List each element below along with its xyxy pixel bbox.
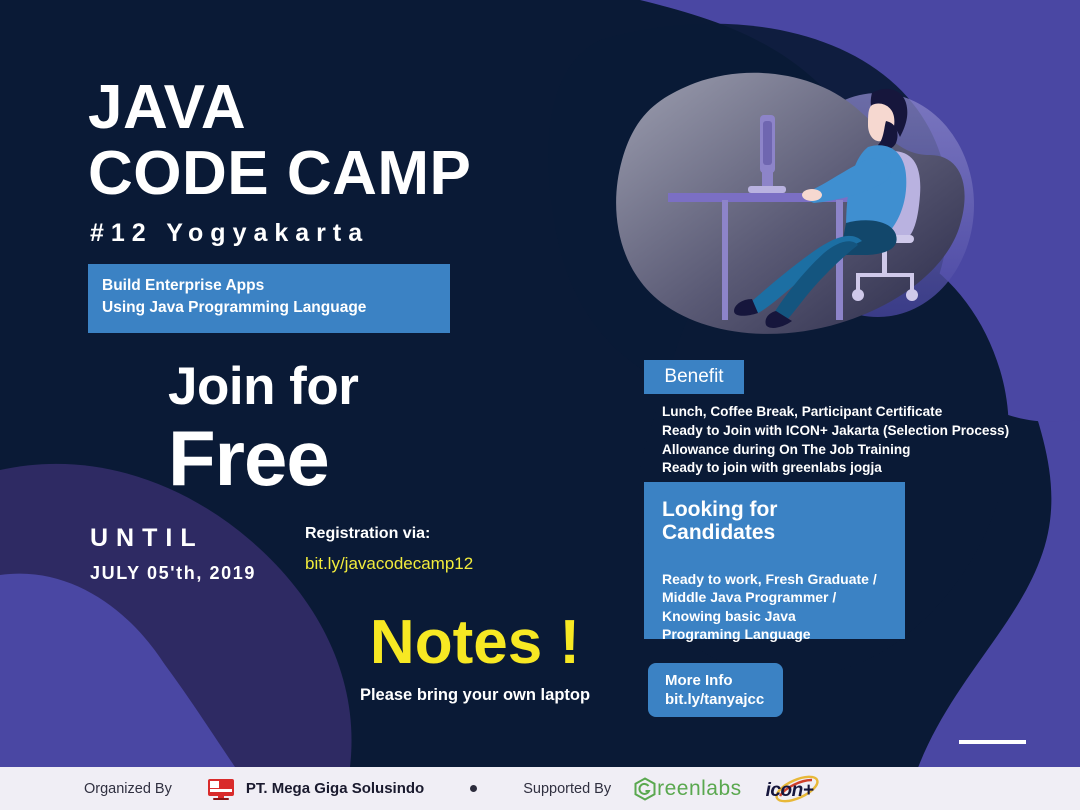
title-line-java: JAVA xyxy=(88,78,608,139)
benefit-item: Lunch, Coffee Break, Participant Certifi… xyxy=(662,403,992,422)
more-info-label: More Info xyxy=(665,671,783,690)
more-info-link[interactable]: bit.ly/tanyajcc xyxy=(665,690,783,709)
greenlabs-hexagon-icon xyxy=(633,777,657,801)
benefit-item: Ready to join with greenlabs jogja xyxy=(662,459,992,478)
developer-at-desk-illustration xyxy=(600,55,1000,355)
title-line-codecamp: CODE CAMP xyxy=(88,143,608,205)
benefit-item: Allowance during On The Job Training xyxy=(662,441,992,460)
candidates-box: Looking for Candidates Ready to work, Fr… xyxy=(644,482,905,639)
benefit-item: Ready to Join with ICON+ Jakarta (Select… xyxy=(662,422,992,441)
candidates-item: Programing Language xyxy=(662,625,887,643)
candidates-title: Looking for Candidates xyxy=(662,498,887,544)
candidates-item: Knowing basic Java xyxy=(662,607,887,625)
greenlabs-wordmark: reenlabs xyxy=(657,777,742,801)
deadline-label: UNTIL xyxy=(90,523,256,553)
join-free-block: Join for Free xyxy=(168,360,588,497)
organizer-name: PT. Mega Giga Solusindo xyxy=(246,780,424,797)
decorative-rule xyxy=(959,740,1026,744)
iconplus-wordmark: icon+ xyxy=(766,780,814,802)
join-for-label: Join for xyxy=(168,360,588,413)
tagline-line-2: Using Java Programming Language xyxy=(102,297,436,319)
registration-block: Registration via: bit.ly/javacodecamp12 xyxy=(305,524,473,574)
headline-block: JAVA CODE CAMP #12 Yogyakarta Build Ente… xyxy=(88,78,608,333)
candidates-list: Ready to work, Fresh Graduate / Middle J… xyxy=(662,570,887,643)
greenlabs-logo: reenlabs xyxy=(633,777,742,801)
notes-title: Notes ! xyxy=(310,612,640,674)
footer-separator-dot xyxy=(470,785,477,792)
iconplus-logo: icon+ xyxy=(760,774,830,804)
deadline-block: UNTIL JULY 05'th, 2019 xyxy=(90,523,256,584)
benefit-list: Lunch, Coffee Break, Participant Certifi… xyxy=(662,403,992,478)
notes-block: Notes ! Please bring your own laptop xyxy=(310,612,640,705)
megagiga-logo-icon xyxy=(206,777,236,801)
deadline-date: JULY 05'th, 2019 xyxy=(90,563,256,584)
organized-by-label: Organized By xyxy=(84,781,172,797)
candidates-item: Ready to work, Fresh Graduate / xyxy=(662,570,887,588)
more-info-button[interactable]: More Info bit.ly/tanyajcc xyxy=(648,663,783,717)
edition-city-label: #12 Yogyakarta xyxy=(90,219,608,248)
tagline-box: Build Enterprise Apps Using Java Program… xyxy=(88,264,450,333)
purple-blob-bottom-left-front xyxy=(0,583,235,767)
purple-blob-bottom-left-back xyxy=(0,464,352,767)
supported-by-label: Supported By xyxy=(523,781,611,797)
benefit-tag-label: Benefit xyxy=(664,366,723,388)
poster-canvas: JAVA CODE CAMP #12 Yogyakarta Build Ente… xyxy=(0,0,1080,810)
purple-blob-bottom-left-front-b xyxy=(0,574,230,767)
benefit-tag: Benefit xyxy=(644,360,744,394)
join-free-label: Free xyxy=(168,419,588,497)
footer-bar: Organized By PT. Mega Giga Solusindo Sup… xyxy=(0,767,1080,810)
candidates-item: Middle Java Programmer / xyxy=(662,588,887,606)
tagline-line-1: Build Enterprise Apps xyxy=(102,275,436,297)
notes-subtitle: Please bring your own laptop xyxy=(310,686,640,705)
registration-label: Registration via: xyxy=(305,524,473,543)
registration-link[interactable]: bit.ly/javacodecamp12 xyxy=(305,554,473,574)
